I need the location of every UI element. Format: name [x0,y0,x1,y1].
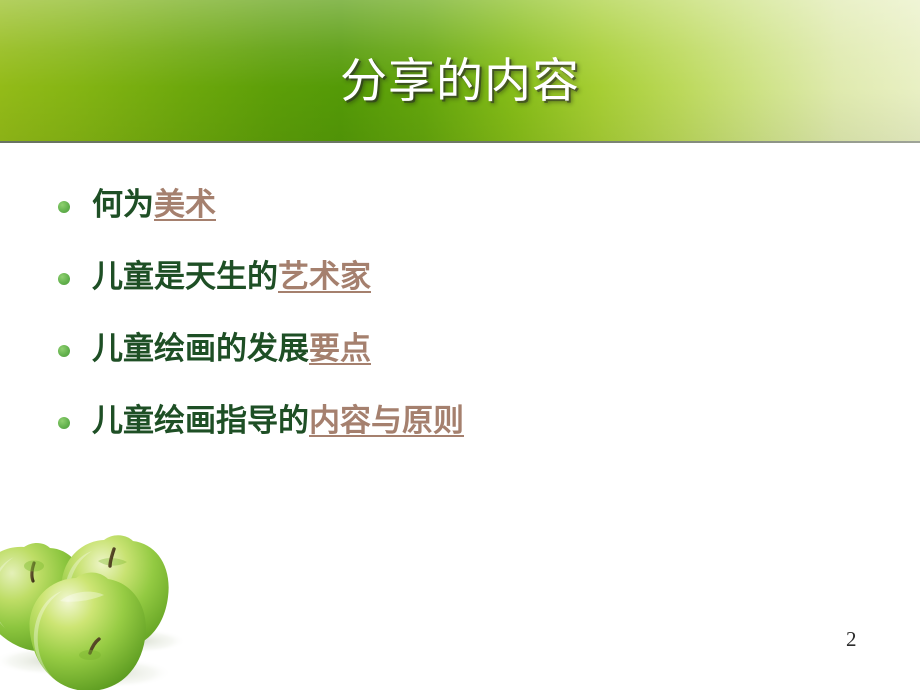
list-item-text: 儿童绘画的发展要点 [92,327,371,371]
page-title: 分享的内容 [0,56,920,108]
bullet-dot-icon [58,273,70,285]
slide: 分享的内容 何为美术 儿童是天生的艺术家 儿童绘画的发展要点 儿童绘画指导的内容… [0,0,920,690]
bullet-list: 何为美术 儿童是天生的艺术家 儿童绘画的发展要点 儿童绘画指导的内容与原则 [0,183,920,471]
bullet-dot-icon [58,417,70,429]
list-item-link[interactable]: 美术 [154,187,216,222]
bullet-dot-icon [58,345,70,357]
list-item-prefix: 儿童绘画的发展 [92,331,309,366]
page-number: 2 [846,627,886,651]
list-item-prefix: 何为 [92,187,154,222]
list-item-link[interactable]: 内容与原则 [309,403,464,438]
apple-front [30,572,146,690]
list-item: 儿童是天生的艺术家 [0,255,920,327]
list-item-text: 何为美术 [92,183,216,227]
green-apples-image [0,521,228,690]
list-item-prefix: 儿童绘画指导的 [92,403,309,438]
list-item-text: 儿童绘画指导的内容与原则 [92,399,464,443]
list-item: 何为美术 [0,183,920,255]
list-item-link[interactable]: 要点 [309,331,371,366]
list-item-prefix: 儿童是天生的 [92,259,278,294]
bullet-dot-icon [58,201,70,213]
list-item: 儿童绘画指导的内容与原则 [0,399,920,471]
title-separator-rule [0,141,920,143]
list-item-link[interactable]: 艺术家 [278,259,371,294]
list-item: 儿童绘画的发展要点 [0,327,920,399]
list-item-text: 儿童是天生的艺术家 [92,255,371,299]
